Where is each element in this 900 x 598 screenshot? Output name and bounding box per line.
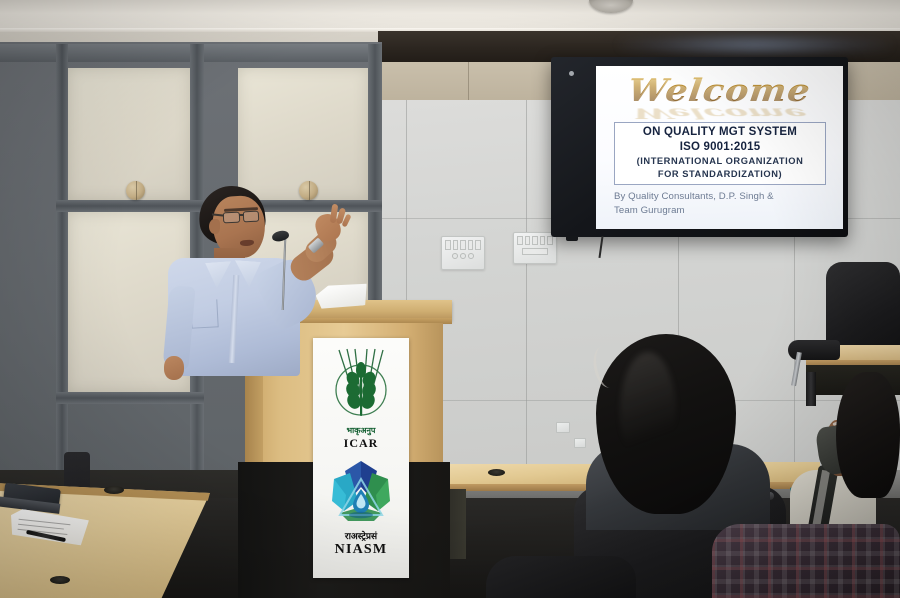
beam-light-reflection (620, 34, 890, 56)
eyeglasses-bridge (239, 214, 244, 216)
eyeglasses-left-lens (223, 212, 241, 224)
wall-socket-plate[interactable] (513, 232, 557, 264)
shirt-pocket (190, 299, 218, 328)
office-chair-column (806, 372, 816, 406)
audience-person-dark-clothing (486, 556, 636, 598)
wall-switch-plate[interactable] (441, 236, 485, 270)
slide-subtitle-line-1: (INTERNATIONAL ORGANIZATION (637, 155, 804, 168)
niasm-logo (322, 457, 400, 529)
icar-logo (323, 346, 399, 424)
slide-subtitle-line-2: FOR STANDARDIZATION) (658, 168, 782, 181)
door-handle-left[interactable] (126, 181, 145, 200)
speaker-ear (209, 219, 220, 234)
slide-welcome-reflection: Welcome (596, 110, 843, 116)
icar-hindi-label: भाकृअनुप (347, 425, 376, 436)
slide-credit-line-1: By Quality Consultants, D.P. Singh & (614, 190, 829, 204)
slide-title-line-2: ISO 9001:2015 (680, 140, 761, 155)
eyeglasses-right-lens (243, 211, 260, 223)
presentation-slide: Welcome Welcome ON QUALITY MGT SYSTEM IS… (596, 66, 843, 229)
slide-welcome-text: Welcome (626, 73, 813, 109)
slide-title-box: ON QUALITY MGT SYSTEM ISO 9001:2015 (INT… (614, 122, 826, 185)
niasm-acronym-label: NIASM (335, 542, 388, 558)
cable-grommet-left-front (50, 576, 70, 584)
niasm-hindi-label: राअस्ट्रेप्रसं (345, 529, 377, 542)
door-mullion-left (56, 44, 68, 474)
door-rail-lower (56, 392, 204, 404)
ceiling (0, 0, 900, 30)
audience-hair-highlight (620, 352, 676, 472)
tv-power-indicator-icon (569, 71, 574, 76)
wall-data-port-plate[interactable] (556, 422, 570, 433)
conference-room-photo: Welcome Welcome ON QUALITY MGT SYSTEM IS… (0, 0, 900, 598)
wheat-stalk-icon (323, 346, 399, 424)
slide-title-line-1: ON QUALITY MGT SYSTEM (643, 125, 797, 139)
cable-grommet (488, 469, 505, 476)
wall-power-outlet[interactable] (574, 438, 586, 448)
plaid-pattern-overlay (712, 524, 900, 598)
water-drop-triangle-icon (322, 457, 400, 529)
icar-acronym-label: ICAR (344, 436, 379, 451)
masked-person-hair (836, 372, 900, 498)
lectern-banner: भाकृअनुप ICAR राअस्ट्रेप्रसं NIASM (313, 338, 409, 578)
slide-credit: By Quality Consultants, D.P. Singh & Tea… (614, 190, 829, 219)
frosted-glass-panel-upper-right (238, 68, 368, 200)
cable-grommet-left (104, 486, 124, 494)
door-handle-right[interactable] (299, 181, 318, 200)
slide-credit-line-2: Team Gurugram (614, 204, 829, 218)
speaker-left-hand (164, 356, 184, 380)
tv-mount-tab (566, 236, 578, 241)
frosted-glass-panel-upper-left (68, 68, 190, 200)
